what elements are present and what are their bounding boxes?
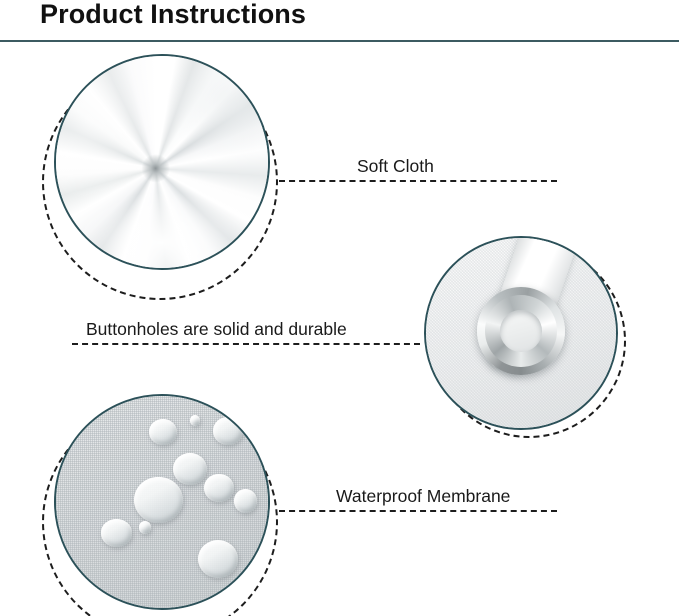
metal-grommet-eyelet-photo <box>426 238 616 428</box>
water-droplet <box>139 521 152 534</box>
product-instructions-infographic: Product Instructions Soft Cloth <box>0 0 679 616</box>
waterproof-callout: Waterproof Membrane <box>279 470 557 512</box>
soft-cloth-leader-line <box>279 180 557 182</box>
soft-cloth-photo-circle <box>54 54 270 270</box>
grommet-inner-ring <box>485 295 557 367</box>
buttonholes-callout: Buttonholes are solid and durable <box>72 303 420 345</box>
buttonholes-label: Buttonholes are solid and durable <box>86 321 347 339</box>
page-title: Product Instructions <box>40 0 306 30</box>
title-divider-rule <box>0 40 679 42</box>
water-droplet <box>234 489 257 512</box>
water-droplet <box>190 415 201 426</box>
water-droplet <box>213 417 243 445</box>
grommet-hole <box>500 310 542 352</box>
water-droplet <box>204 474 234 502</box>
water-droplet <box>134 477 183 524</box>
buttonholes-leader-line <box>72 343 420 345</box>
water-droplet <box>101 519 133 547</box>
soft-cloth-callout: Soft Cloth <box>279 140 557 182</box>
water-droplet <box>198 540 238 578</box>
waterproof-photo-circle <box>54 394 270 610</box>
buttonholes-photo-circle <box>424 236 618 430</box>
waterproof-leader-line <box>279 510 557 512</box>
soft-cloth-label: Soft Cloth <box>357 158 434 176</box>
water-droplet <box>173 453 207 485</box>
water-droplet <box>149 419 177 444</box>
swirled-white-fabric-photo <box>56 56 268 268</box>
waterproof-label: Waterproof Membrane <box>336 488 510 506</box>
water-droplets-on-fabric-photo <box>56 396 268 608</box>
grommet-outer-ring <box>477 287 564 374</box>
